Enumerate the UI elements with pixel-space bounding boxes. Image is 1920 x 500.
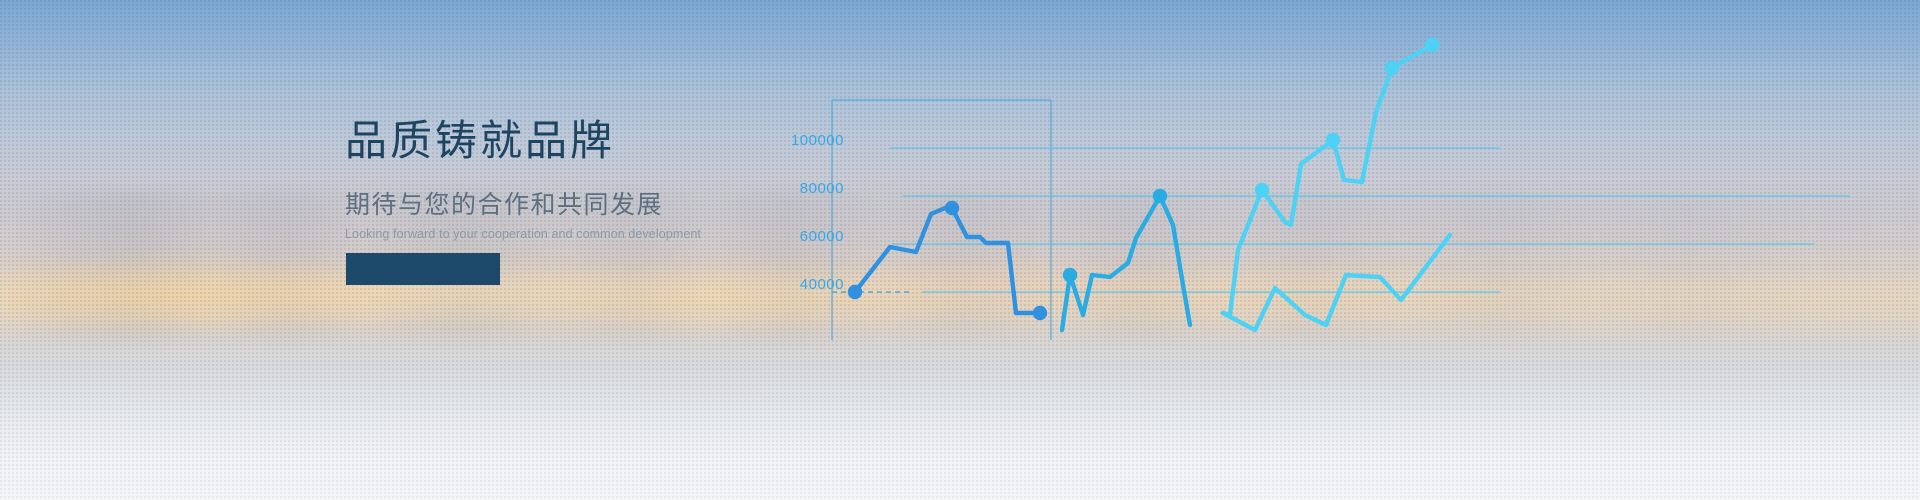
chart-svg: 100000 80000 60000 40000 bbox=[740, 0, 1920, 500]
axis-frame bbox=[832, 100, 1051, 340]
series-1-marker-start bbox=[848, 285, 862, 299]
line-chart: 100000 80000 60000 40000 bbox=[740, 0, 1920, 500]
page-title: 品质铸就品牌 bbox=[345, 120, 765, 162]
banner-root: 品质铸就品牌 期待与您的合作和共同发展 Looking forward to y… bbox=[0, 0, 1920, 500]
series-1-marker-end bbox=[1033, 306, 1047, 320]
series-1 bbox=[855, 208, 1040, 313]
series-3-marker-d bbox=[1425, 38, 1439, 52]
cta-button[interactable] bbox=[346, 253, 500, 285]
y-tick-80000: 80000 bbox=[800, 180, 844, 197]
series-3-markers bbox=[1255, 38, 1439, 197]
series-3-marker-b bbox=[1326, 133, 1340, 147]
series-2-markers bbox=[1063, 189, 1167, 282]
gridlines bbox=[890, 148, 1850, 292]
y-tick-40000: 40000 bbox=[800, 276, 844, 293]
series-1-path bbox=[855, 208, 1040, 313]
series-3-marker-c bbox=[1385, 61, 1399, 75]
subtitle-chinese: 期待与您的合作和共同发展 bbox=[345, 193, 765, 218]
series-2-marker-peak bbox=[1153, 189, 1167, 203]
series-3 bbox=[1223, 45, 1432, 315]
series-2-marker-a bbox=[1063, 268, 1077, 282]
series-4-path bbox=[1223, 235, 1450, 330]
y-tick-100000: 100000 bbox=[791, 132, 844, 149]
series-2 bbox=[1062, 196, 1190, 330]
series-4 bbox=[1223, 235, 1450, 330]
series-1-marker-peak bbox=[945, 201, 959, 215]
series-2-path bbox=[1062, 196, 1190, 330]
y-axis-tick-labels: 100000 80000 60000 40000 bbox=[791, 132, 844, 293]
series-3-path bbox=[1223, 45, 1432, 315]
banner-copy-block: 品质铸就品牌 期待与您的合作和共同发展 Looking forward to y… bbox=[345, 120, 765, 241]
series-3-marker-a bbox=[1255, 183, 1269, 197]
subtitle-english: Looking forward to your cooperation and … bbox=[345, 228, 765, 241]
y-tick-60000: 60000 bbox=[800, 228, 844, 245]
